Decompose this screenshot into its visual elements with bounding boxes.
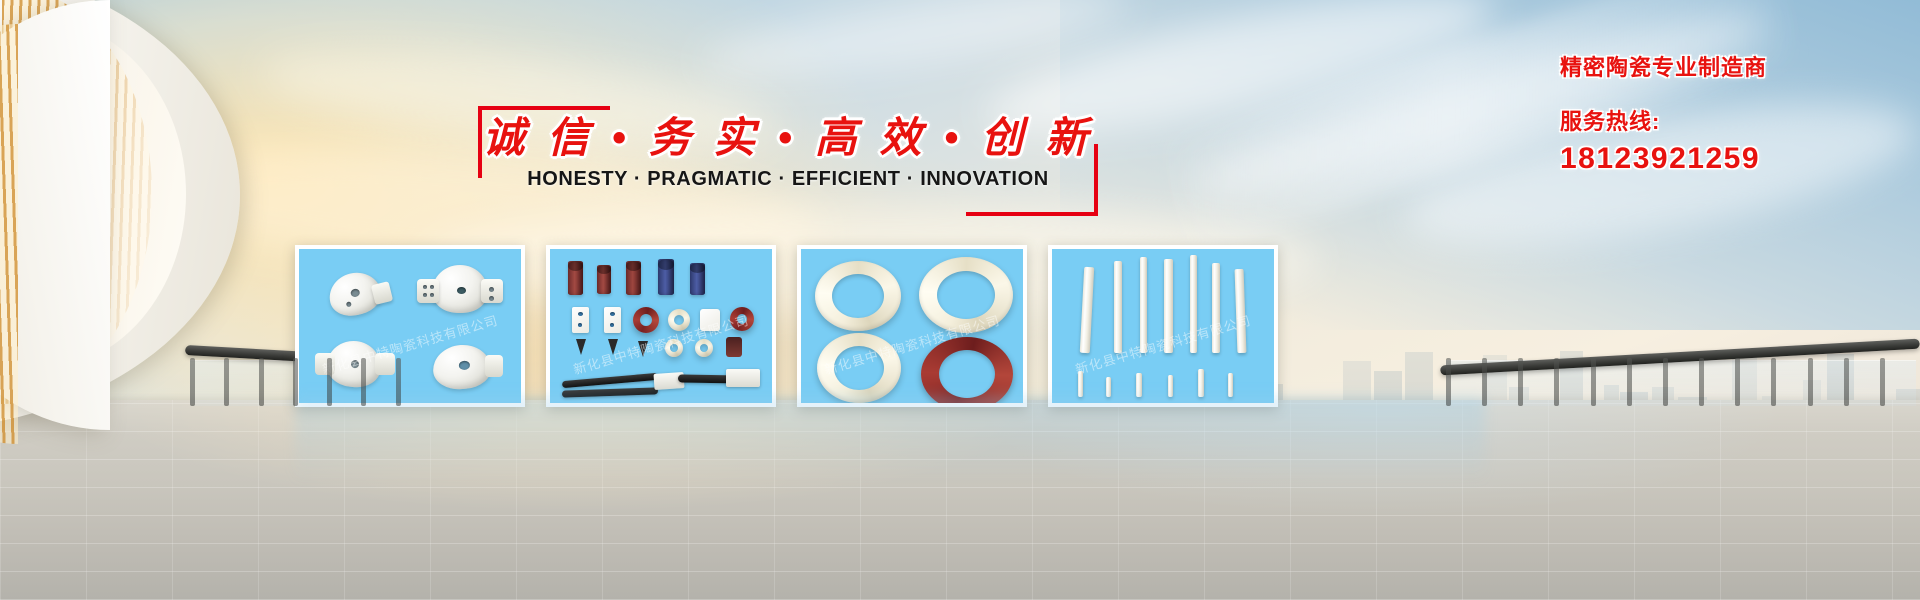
ceramic-rod [1235, 269, 1247, 353]
lamp-holder-wing [375, 353, 395, 375]
railing-post [1663, 358, 1668, 406]
electrode-tip [576, 339, 586, 355]
ceramic-plate [604, 307, 621, 333]
wire-lead [562, 373, 658, 388]
railing-post [1699, 358, 1704, 406]
railing-post [1591, 358, 1596, 406]
product-panel-group: 陶瓷灯头 [295, 245, 1485, 407]
arch-ribs [0, 24, 18, 444]
railing-post [361, 358, 366, 406]
company-tagline: 精密陶瓷专业制造商 [1560, 50, 1900, 82]
ceramic-rod [1140, 257, 1147, 353]
ceramic-rod [1080, 267, 1094, 353]
ceramic-lamp-holder [432, 265, 488, 313]
product-panel-2[interactable]: 陶瓷管件与接线组件 [546, 245, 776, 407]
ceramic-pin [1228, 373, 1233, 397]
product-panel-4-image: 陶瓷棒 新化县中特陶瓷科技有限公司 [1052, 249, 1274, 403]
ceramic-rod [1212, 263, 1220, 353]
ceramic-ring-small-red [633, 307, 659, 333]
product-panel-3-image: 陶瓷密封环 新化县中特陶瓷科技有限公司 [801, 249, 1023, 403]
railing-post [1518, 358, 1523, 406]
product-panel-4[interactable]: 陶瓷棒 新化县中特陶瓷科技有限公司 [1048, 245, 1278, 407]
ceramic-pin [1198, 369, 1204, 397]
ceramic-lamp-holder [432, 343, 493, 391]
ceramic-washer [665, 339, 683, 357]
panel-floor-reflection [295, 396, 1485, 482]
railing-post [1808, 358, 1813, 406]
lamp-holder-stem [371, 281, 393, 305]
railing-post [190, 358, 195, 406]
product-panel-2-image: 陶瓷管件与接线组件 [550, 249, 772, 403]
ceramic-seal-ring-red [921, 337, 1013, 403]
ceramic-tube-red [626, 261, 641, 295]
electrode-tip [608, 339, 618, 355]
railing-post [327, 358, 332, 406]
wire-connector [726, 369, 760, 387]
lamp-holder-wing [417, 279, 439, 303]
ceramic-seal-ring [815, 261, 901, 331]
railing-post [1771, 358, 1776, 406]
ceramic-tube-red [568, 261, 583, 295]
lamp-holder-wing [485, 355, 503, 377]
railing-post [1446, 358, 1451, 406]
railing-post [1880, 358, 1885, 406]
ceramic-ring-small-red [730, 307, 754, 331]
electrode-tip [638, 341, 648, 357]
slogan-english: HONESTY · PRAGMATIC · EFFICIENT · INNOVA… [478, 168, 1098, 191]
ceramic-rod [1114, 261, 1122, 353]
ceramic-tube-blue [690, 263, 705, 295]
curved-architecture-right [0, 0, 110, 430]
product-panel-1-image: 陶瓷灯头 [299, 249, 521, 403]
ceramic-pin [1168, 375, 1173, 397]
product-panel-3[interactable]: 陶瓷密封环 新化县中特陶瓷科技有限公司 [797, 245, 1027, 407]
ceramic-ring-small-white [668, 309, 690, 331]
railing-post [224, 358, 229, 406]
image-watermark: 新化县中特陶瓷科技有限公司 [1073, 310, 1253, 378]
hotline-label: 服务热线: [1560, 104, 1900, 136]
slogan-block: 诚 信 • 务 实 • 高 效 • 创 新 HONESTY · PRAGMATI… [478, 106, 1098, 216]
contact-block: 精密陶瓷专业制造商 服务热线: 18123921259 [1560, 50, 1900, 176]
railing-post [1844, 358, 1849, 406]
ceramic-plate [572, 307, 589, 333]
ceramic-seal-ring [919, 257, 1013, 333]
railing-post [1627, 358, 1632, 406]
promo-banner: 诚 信 • 务 实 • 高 效 • 创 新 HONESTY · PRAGMATI… [0, 0, 1920, 600]
ceramic-rod [1164, 259, 1173, 353]
railing-post [293, 358, 298, 406]
ceramic-pin [1078, 371, 1083, 397]
ceramic-washer [695, 339, 713, 357]
ceramic-pin [1106, 377, 1111, 397]
image-watermark: 新化县中特陶瓷科技有限公司 [571, 310, 751, 378]
slogan-chinese: 诚 信 • 务 实 • 高 效 • 创 新 [478, 104, 1098, 165]
railing-post [1482, 358, 1487, 406]
ceramic-pin [1136, 373, 1142, 397]
ceramic-tube-blue [658, 259, 674, 295]
ceramic-tube-red [597, 265, 611, 294]
railing-post [1554, 358, 1559, 406]
ceramic-rod [1190, 255, 1197, 353]
railing-post [396, 358, 401, 406]
hotline-number[interactable]: 18123921259 [1560, 142, 1900, 176]
railing-post [259, 358, 264, 406]
ceramic-seal-ring [817, 333, 901, 403]
railing-post [1735, 358, 1740, 406]
ceramic-cap-red [726, 337, 742, 357]
ceramic-plate [700, 309, 720, 331]
